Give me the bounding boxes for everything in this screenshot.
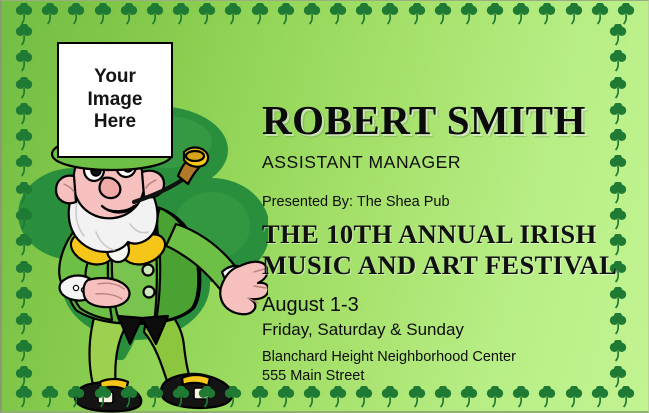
- event-title-line1: THE 10TH ANNUAL IRISH: [262, 219, 602, 250]
- shamrock-icon: [608, 50, 628, 72]
- border-shamrocks-left: [14, 24, 34, 388]
- shamrock-icon: [511, 3, 531, 25]
- shamrock-icon: [608, 287, 628, 309]
- shamrock-icon: [616, 3, 636, 25]
- shamrock-icon: [14, 182, 34, 204]
- shamrock-icon: [380, 386, 400, 408]
- shamrock-icon: [276, 3, 296, 25]
- shamrock-icon: [328, 386, 348, 408]
- shamrock-icon: [145, 3, 165, 25]
- shamrock-icon: [302, 3, 322, 25]
- shamrock-icon: [14, 366, 34, 388]
- shamrock-icon: [250, 386, 270, 408]
- leprechaun-mascot-icon: [18, 120, 268, 413]
- shamrock-icon: [66, 386, 86, 408]
- shamrock-icon: [14, 3, 34, 25]
- shamrock-icon: [14, 234, 34, 256]
- shamrock-icon: [14, 208, 34, 230]
- shamrock-icon: [433, 3, 453, 25]
- shamrock-icon: [223, 386, 243, 408]
- border-shamrocks-right: [608, 24, 628, 388]
- shamrock-icon: [590, 3, 610, 25]
- shamrock-icon: [537, 386, 557, 408]
- event-title: THE 10TH ANNUAL IRISH MUSIC AND ART FEST…: [262, 219, 602, 280]
- shamrock-icon: [354, 3, 374, 25]
- shamrock-icon: [407, 3, 427, 25]
- event-street: 555 Main Street: [262, 368, 602, 384]
- shamrock-icon: [608, 77, 628, 99]
- shamrock-icon: [433, 386, 453, 408]
- presented-by: Presented By: The Shea Pub: [262, 194, 602, 210]
- shamrock-icon: [223, 3, 243, 25]
- photo-placeholder-line2: Image: [88, 89, 143, 111]
- shamrock-icon: [616, 386, 636, 408]
- shamrock-icon: [14, 340, 34, 362]
- shamrock-icon: [14, 24, 34, 46]
- shamrock-icon: [608, 208, 628, 230]
- event-title-line2: MUSIC AND ART FESTIVAL: [262, 250, 602, 281]
- shamrock-icon: [608, 340, 628, 362]
- shamrock-icon: [608, 103, 628, 125]
- shamrock-icon: [302, 386, 322, 408]
- shamrock-icon: [40, 3, 60, 25]
- shamrock-icon: [14, 155, 34, 177]
- shamrock-icon: [14, 103, 34, 125]
- shamrock-icon: [608, 155, 628, 177]
- shamrock-icon: [564, 386, 584, 408]
- shamrock-icon: [66, 3, 86, 25]
- event-ticket: Your Image Here ROBERT SMITH ASSISTANT M…: [0, 0, 649, 413]
- shamrock-icon: [459, 3, 479, 25]
- shamrock-icon: [564, 3, 584, 25]
- photo-placeholder[interactable]: Your Image Here: [57, 42, 173, 158]
- shamrock-icon: [14, 386, 34, 408]
- shamrock-icon: [459, 386, 479, 408]
- shamrock-icon: [14, 129, 34, 151]
- shamrock-icon: [145, 386, 165, 408]
- shamrock-icon: [14, 261, 34, 283]
- shamrock-icon: [197, 386, 217, 408]
- shamrock-icon: [119, 3, 139, 25]
- shamrock-icon: [608, 129, 628, 151]
- shamrock-icon: [14, 50, 34, 72]
- event-days: Friday, Saturday & Sunday: [262, 320, 602, 340]
- shamrock-icon: [14, 77, 34, 99]
- attendee-job-title: ASSISTANT MANAGER: [262, 152, 602, 173]
- shamrock-icon: [608, 182, 628, 204]
- shamrock-icon: [328, 3, 348, 25]
- border-shamrocks-top: [14, 3, 636, 25]
- shamrock-icon: [485, 3, 505, 25]
- shamrock-icon: [608, 366, 628, 388]
- shamrock-icon: [276, 386, 296, 408]
- shamrock-icon: [354, 386, 374, 408]
- event-date: August 1-3: [262, 294, 602, 316]
- shamrock-icon: [608, 313, 628, 335]
- shamrock-icon: [171, 3, 191, 25]
- border-shamrocks-bottom: [14, 386, 636, 408]
- shamrock-icon: [250, 3, 270, 25]
- shamrock-icon: [119, 386, 139, 408]
- attendee-name: ROBERT SMITH: [262, 100, 602, 141]
- shamrock-icon: [14, 287, 34, 309]
- shamrock-icon: [40, 386, 60, 408]
- shamrock-icon: [485, 386, 505, 408]
- shamrock-icon: [537, 3, 557, 25]
- shamrock-icon: [407, 386, 427, 408]
- photo-placeholder-line3: Here: [94, 111, 136, 133]
- shamrock-icon: [380, 3, 400, 25]
- shamrock-icon: [608, 24, 628, 46]
- shamrock-icon: [171, 386, 191, 408]
- shamrock-icon: [14, 313, 34, 335]
- shamrock-icon: [511, 386, 531, 408]
- shamrock-icon: [197, 3, 217, 25]
- photo-placeholder-line1: Your: [94, 66, 136, 88]
- event-venue: Blanchard Height Neighborhood Center: [262, 349, 602, 365]
- shamrock-icon: [93, 3, 113, 25]
- shamrock-icon: [590, 386, 610, 408]
- shamrock-icon: [93, 386, 113, 408]
- ticket-text-block: ROBERT SMITH ASSISTANT MANAGER Presented…: [262, 100, 602, 384]
